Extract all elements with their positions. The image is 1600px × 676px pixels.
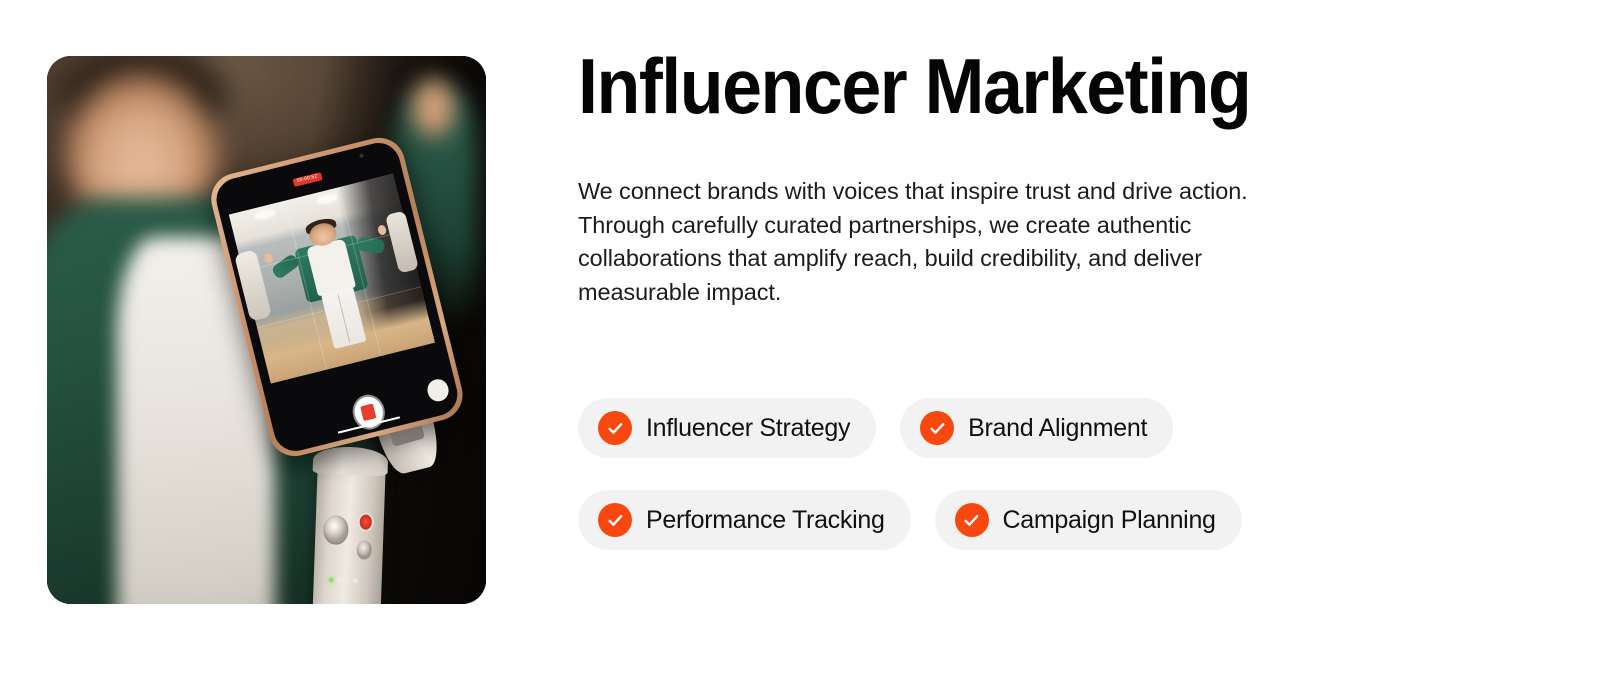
gimbal-led (352, 578, 357, 583)
feature-pill-label: Campaign Planning (1003, 508, 1216, 533)
check-circle-icon (598, 411, 632, 445)
description-paragraph: We connect brands with voices that inspi… (578, 175, 1313, 309)
influencer-marketing-section: 00:00:52 (0, 0, 1600, 676)
gimbal-joystick (323, 515, 349, 546)
check-circle-icon (598, 503, 632, 537)
recording-timer-badge: 00:00:52 (292, 173, 322, 187)
gimbal-battery-leds (328, 578, 368, 582)
feature-pill-brand-alignment[interactable]: Brand Alignment (900, 398, 1173, 458)
feature-pill-label: Performance Tracking (646, 508, 885, 533)
photo-subject-hand (407, 72, 460, 143)
phone-camera-dot (359, 153, 364, 158)
gimbal-mode-button (356, 540, 372, 559)
page-title: Influencer Marketing (578, 46, 1250, 127)
creator-photo: 00:00:52 (47, 56, 486, 604)
feature-pill-performance-tracking[interactable]: Performance Tracking (578, 490, 911, 550)
gimbal-handle (312, 455, 386, 604)
feature-pill-label: Brand Alignment (968, 416, 1147, 441)
check-circle-icon (955, 503, 989, 537)
gimbal-led (328, 577, 333, 582)
feature-image-card: 00:00:52 (47, 56, 486, 604)
feature-content: Influencer Marketing We connect brands w… (578, 0, 1338, 676)
feature-pill-list: Influencer Strategy Brand Alignment Perf (578, 398, 1338, 550)
gimbal-handle-cap (312, 446, 388, 477)
feature-pill-influencer-strategy[interactable]: Influencer Strategy (578, 398, 876, 458)
check-circle-icon (920, 411, 954, 445)
gimbal-led (344, 577, 349, 582)
gallery-thumbnail-button[interactable] (426, 377, 451, 404)
gimbal-led (336, 577, 341, 582)
feature-pill-campaign-planning[interactable]: Campaign Planning (935, 490, 1242, 550)
feature-pill-label: Influencer Strategy (646, 416, 850, 441)
gimbal-record-button (359, 514, 372, 529)
